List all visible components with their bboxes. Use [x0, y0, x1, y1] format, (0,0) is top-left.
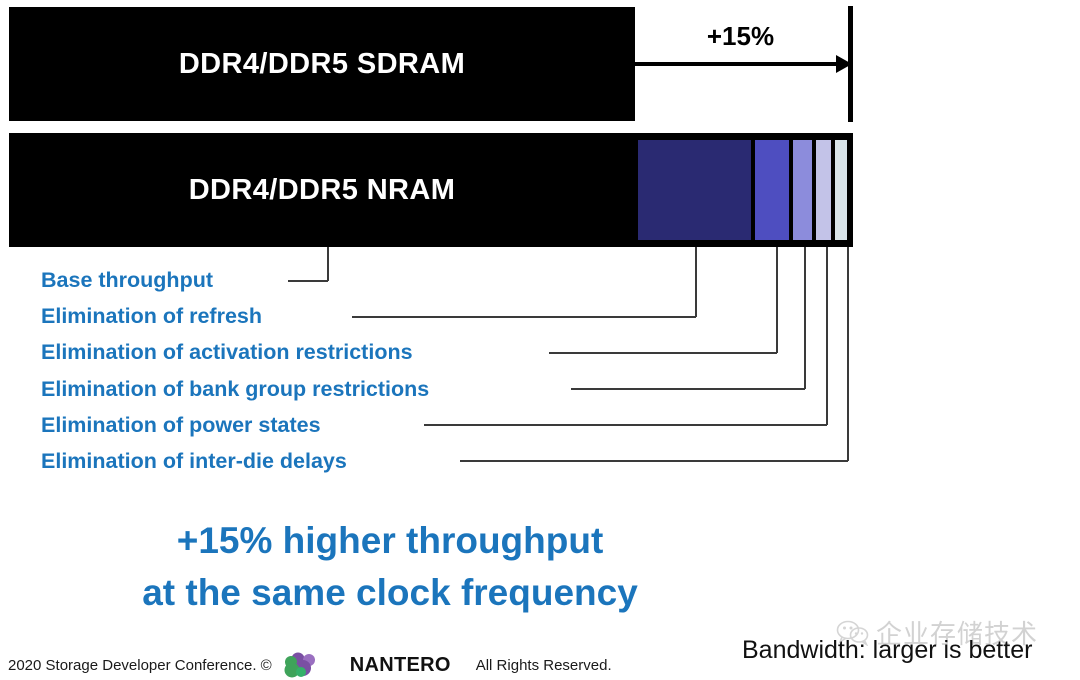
callout-bank-group: Elimination of bank group restrictions — [41, 371, 661, 407]
segment-bank-group — [789, 140, 812, 240]
headline-line-1: +15% higher throughput — [0, 515, 780, 567]
slide-canvas: DDR4/DDR5 SDRAM +15% DDR4/DDR5 NRAM Base… — [0, 0, 1080, 680]
callout-power-states: Elimination of power states — [41, 407, 661, 443]
callout-base-throughput: Base throughput — [41, 262, 661, 298]
callout-refresh: Elimination of refresh — [41, 298, 661, 334]
bar-sdram: DDR4/DDR5 SDRAM — [10, 8, 634, 120]
leader-v-inter-die — [847, 247, 849, 461]
footer-conference-text: 2020 Storage Developer Conference. © — [8, 657, 272, 674]
segment-power-states — [812, 140, 831, 240]
callout-list: Base throughput Elimination of refresh E… — [41, 262, 661, 479]
delta-arrow-head-icon — [836, 55, 852, 73]
callout-inter-die-delays: Elimination of inter-die delays — [41, 443, 661, 479]
bar-nram-label: DDR4/DDR5 NRAM — [10, 174, 634, 207]
segment-inter-die-delays — [831, 140, 847, 240]
segment-refresh — [638, 140, 751, 240]
segment-activation — [751, 140, 789, 240]
headline-line-2: at the same clock frequency — [0, 567, 780, 619]
delta-arrow-line — [633, 62, 848, 66]
headline: +15% higher throughput at the same clock… — [0, 515, 780, 619]
callout-activation: Elimination of activation restrictions — [41, 334, 661, 370]
bar-nram-segments — [634, 134, 852, 246]
footer-rights-text: All Rights Reserved. — [476, 657, 612, 674]
nantero-logo-icon — [281, 652, 343, 678]
leader-v-refresh — [695, 247, 697, 317]
leader-v-activation — [776, 247, 778, 353]
delta-value-label: +15% — [633, 21, 848, 52]
leader-v-power — [826, 247, 828, 425]
bar-sdram-label: DDR4/DDR5 SDRAM — [10, 48, 634, 81]
leader-v-bank-group — [804, 247, 806, 389]
nantero-logo-text: NANTERO — [350, 654, 451, 677]
footer: 2020 Storage Developer Conference. © NAN… — [8, 652, 612, 678]
axis-note: Bandwidth: larger is better — [742, 636, 1032, 665]
